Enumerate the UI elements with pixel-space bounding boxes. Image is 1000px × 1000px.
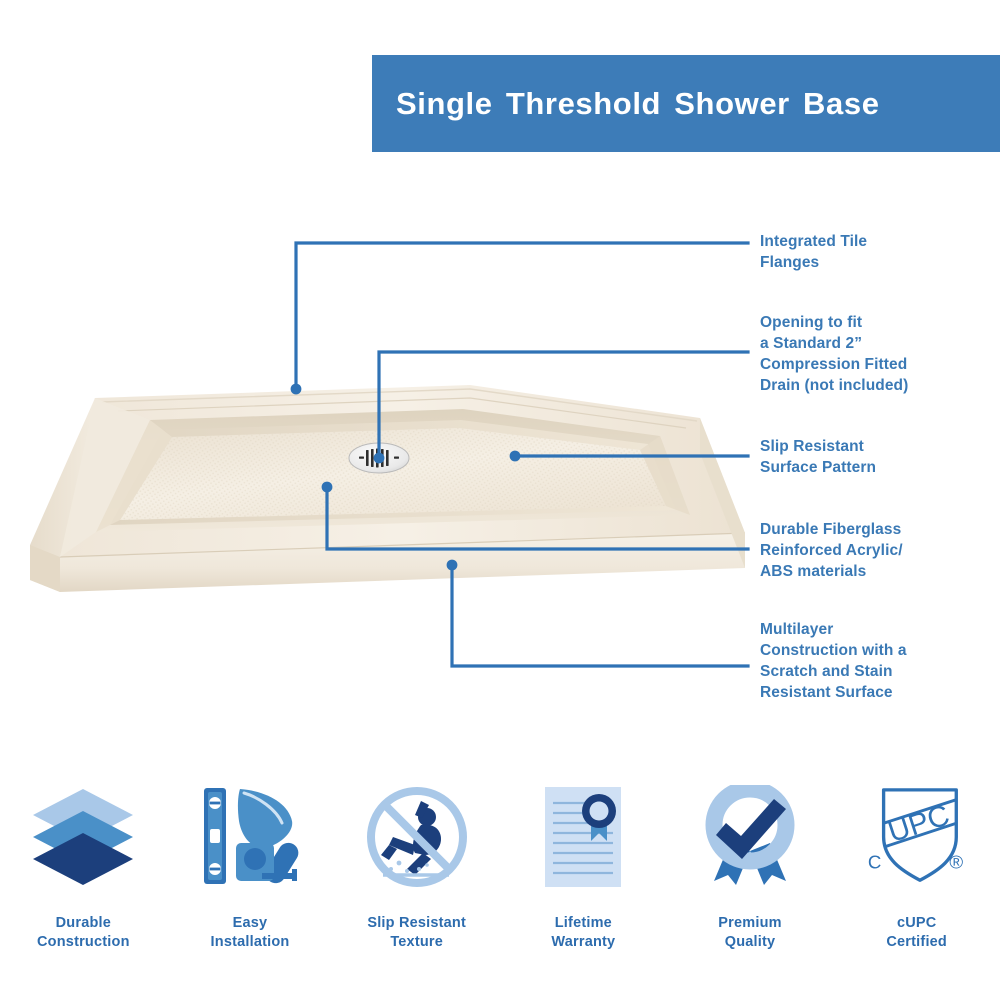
feature-caption: cUPC Certified [886,914,947,952]
no-slip-icon [362,782,472,892]
upc-left-mark: C [868,851,881,872]
callout-label-slip-resistant-surface-pattern: Slip Resistant Surface Pattern [760,436,876,478]
page-title: Single Threshold Shower Base [396,86,880,122]
callout-label-integrated-tile-flanges: Integrated Tile Flanges [760,231,867,273]
feature-caption: Durable Construction [37,914,130,952]
feature-caption: Premium Quality [718,914,781,952]
drain-opening [349,443,409,473]
feature-caption: Lifetime Warranty [551,914,615,952]
feature-premium-quality: Premium Quality [667,782,834,952]
upc-registered-mark: ® [949,851,963,872]
certificate-icon [528,782,638,892]
feature-lifetime-warranty: Lifetime Warranty [500,782,667,952]
layers-icon [28,782,138,892]
level-trowel-icon [195,782,305,892]
feature-durable-construction: Durable Construction [0,782,167,952]
upc-shield-icon: UPC C ® [862,782,972,892]
callout-label-durable-materials: Durable Fiberglass Reinforced Acrylic/ A… [760,519,903,582]
feature-cupc-certified: UPC C ® cUPC Certified [833,782,1000,952]
callout-label-multilayer-construction: Multilayer Construction with a Scratch a… [760,619,907,703]
callout-label-drain-opening: Opening to fit a Standard 2” Compression… [760,312,908,396]
feature-strip: Durable Construction [0,782,1000,1000]
shower-base-body [30,385,745,592]
feature-easy-installation: Easy Installation [167,782,334,952]
product-illustration [0,340,780,630]
feature-caption: Slip Resistant Texture [367,914,466,952]
feature-slip-resistant: Slip Resistant Texture [333,782,500,952]
title-banner: Single Threshold Shower Base [372,55,1000,152]
upc-shield-text: UPC [884,798,953,849]
check-rosette-icon [695,782,805,892]
feature-caption: Easy Installation [211,914,290,952]
